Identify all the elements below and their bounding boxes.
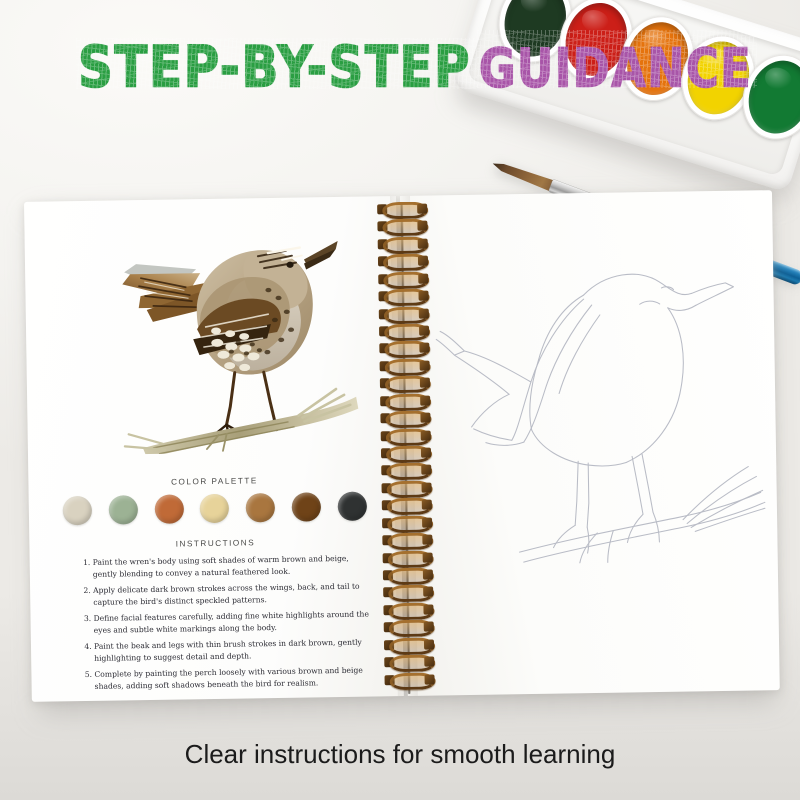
poster-canvas: COLOR PALETTE INSTRUCTIONS Paint the wre… [0,0,800,800]
spiral-coil [379,411,431,426]
instruction-step: Apply delicate dark brown strokes across… [93,580,372,609]
color-palette-heading: COLOR PALETTE [28,474,400,489]
swatch-charcoal-black [338,491,367,520]
spiral-coil [382,585,434,600]
spiral-coil [378,324,430,339]
spiral-coil [377,236,429,251]
swatch-dark-brown [292,492,321,521]
spiral-coil [383,620,435,635]
spiral-coil [383,672,435,687]
spiral-coil [376,219,428,234]
spiral-coil [377,254,429,269]
right-page [400,190,780,696]
spiral-coil [377,289,429,304]
spiral-coil [383,637,435,652]
instruction-step: Complete by painting the perch loosely w… [94,664,373,693]
spiral-coil [380,428,432,443]
wren-watercolor-painting [99,219,361,455]
instructions-heading: INSTRUCTIONS [29,536,401,551]
swatch-terracotta [154,494,183,523]
swatch-sage-green [108,495,137,524]
swatch-pale-tan [200,493,229,522]
spiral-coil [378,341,430,356]
spiral-coil [382,550,434,565]
spiral-coil [378,306,430,321]
instruction-step: Paint the beak and legs with thin brush … [94,636,373,665]
headline-block: STEP-BY-STEP GUIDANCE [78,32,755,87]
spiral-coil [376,202,428,217]
color-palette-swatches [55,488,375,527]
spiral-coil [379,393,431,408]
left-page: COLOR PALETTE INSTRUCTIONS Paint the wre… [24,196,404,702]
spiral-coil [379,376,431,391]
spiral-coil [379,358,431,373]
spiral-coil [381,533,433,548]
instruction-step: Define facial features carefully, adding… [93,608,372,637]
wren-pencil-sketch [433,230,768,565]
spiral-coil [382,568,434,583]
bottom-caption: Clear instructions for smooth learning [0,739,800,770]
sketchbook: COLOR PALETTE INSTRUCTIONS Paint the wre… [24,190,780,714]
headline-line-2: GUIDANCE [479,43,752,94]
spiral-coil [380,463,432,478]
spiral-coil [381,498,433,513]
spiral-coil [380,446,432,461]
headline-line-1: STEP-BY-STEP [78,40,471,95]
instruction-step: Paint the wren's body using soft shades … [93,552,372,581]
swatch-medium-brown [246,493,275,522]
spiral-coil [383,655,435,670]
spiral-coil [377,271,429,286]
instructions-block: Paint the wren's body using soft shades … [76,552,374,697]
spiral-binding [376,198,436,697]
spiral-coil [381,515,433,530]
spiral-coil [380,480,432,495]
spiral-coil [382,602,434,617]
swatch-warm-cream [63,495,92,524]
